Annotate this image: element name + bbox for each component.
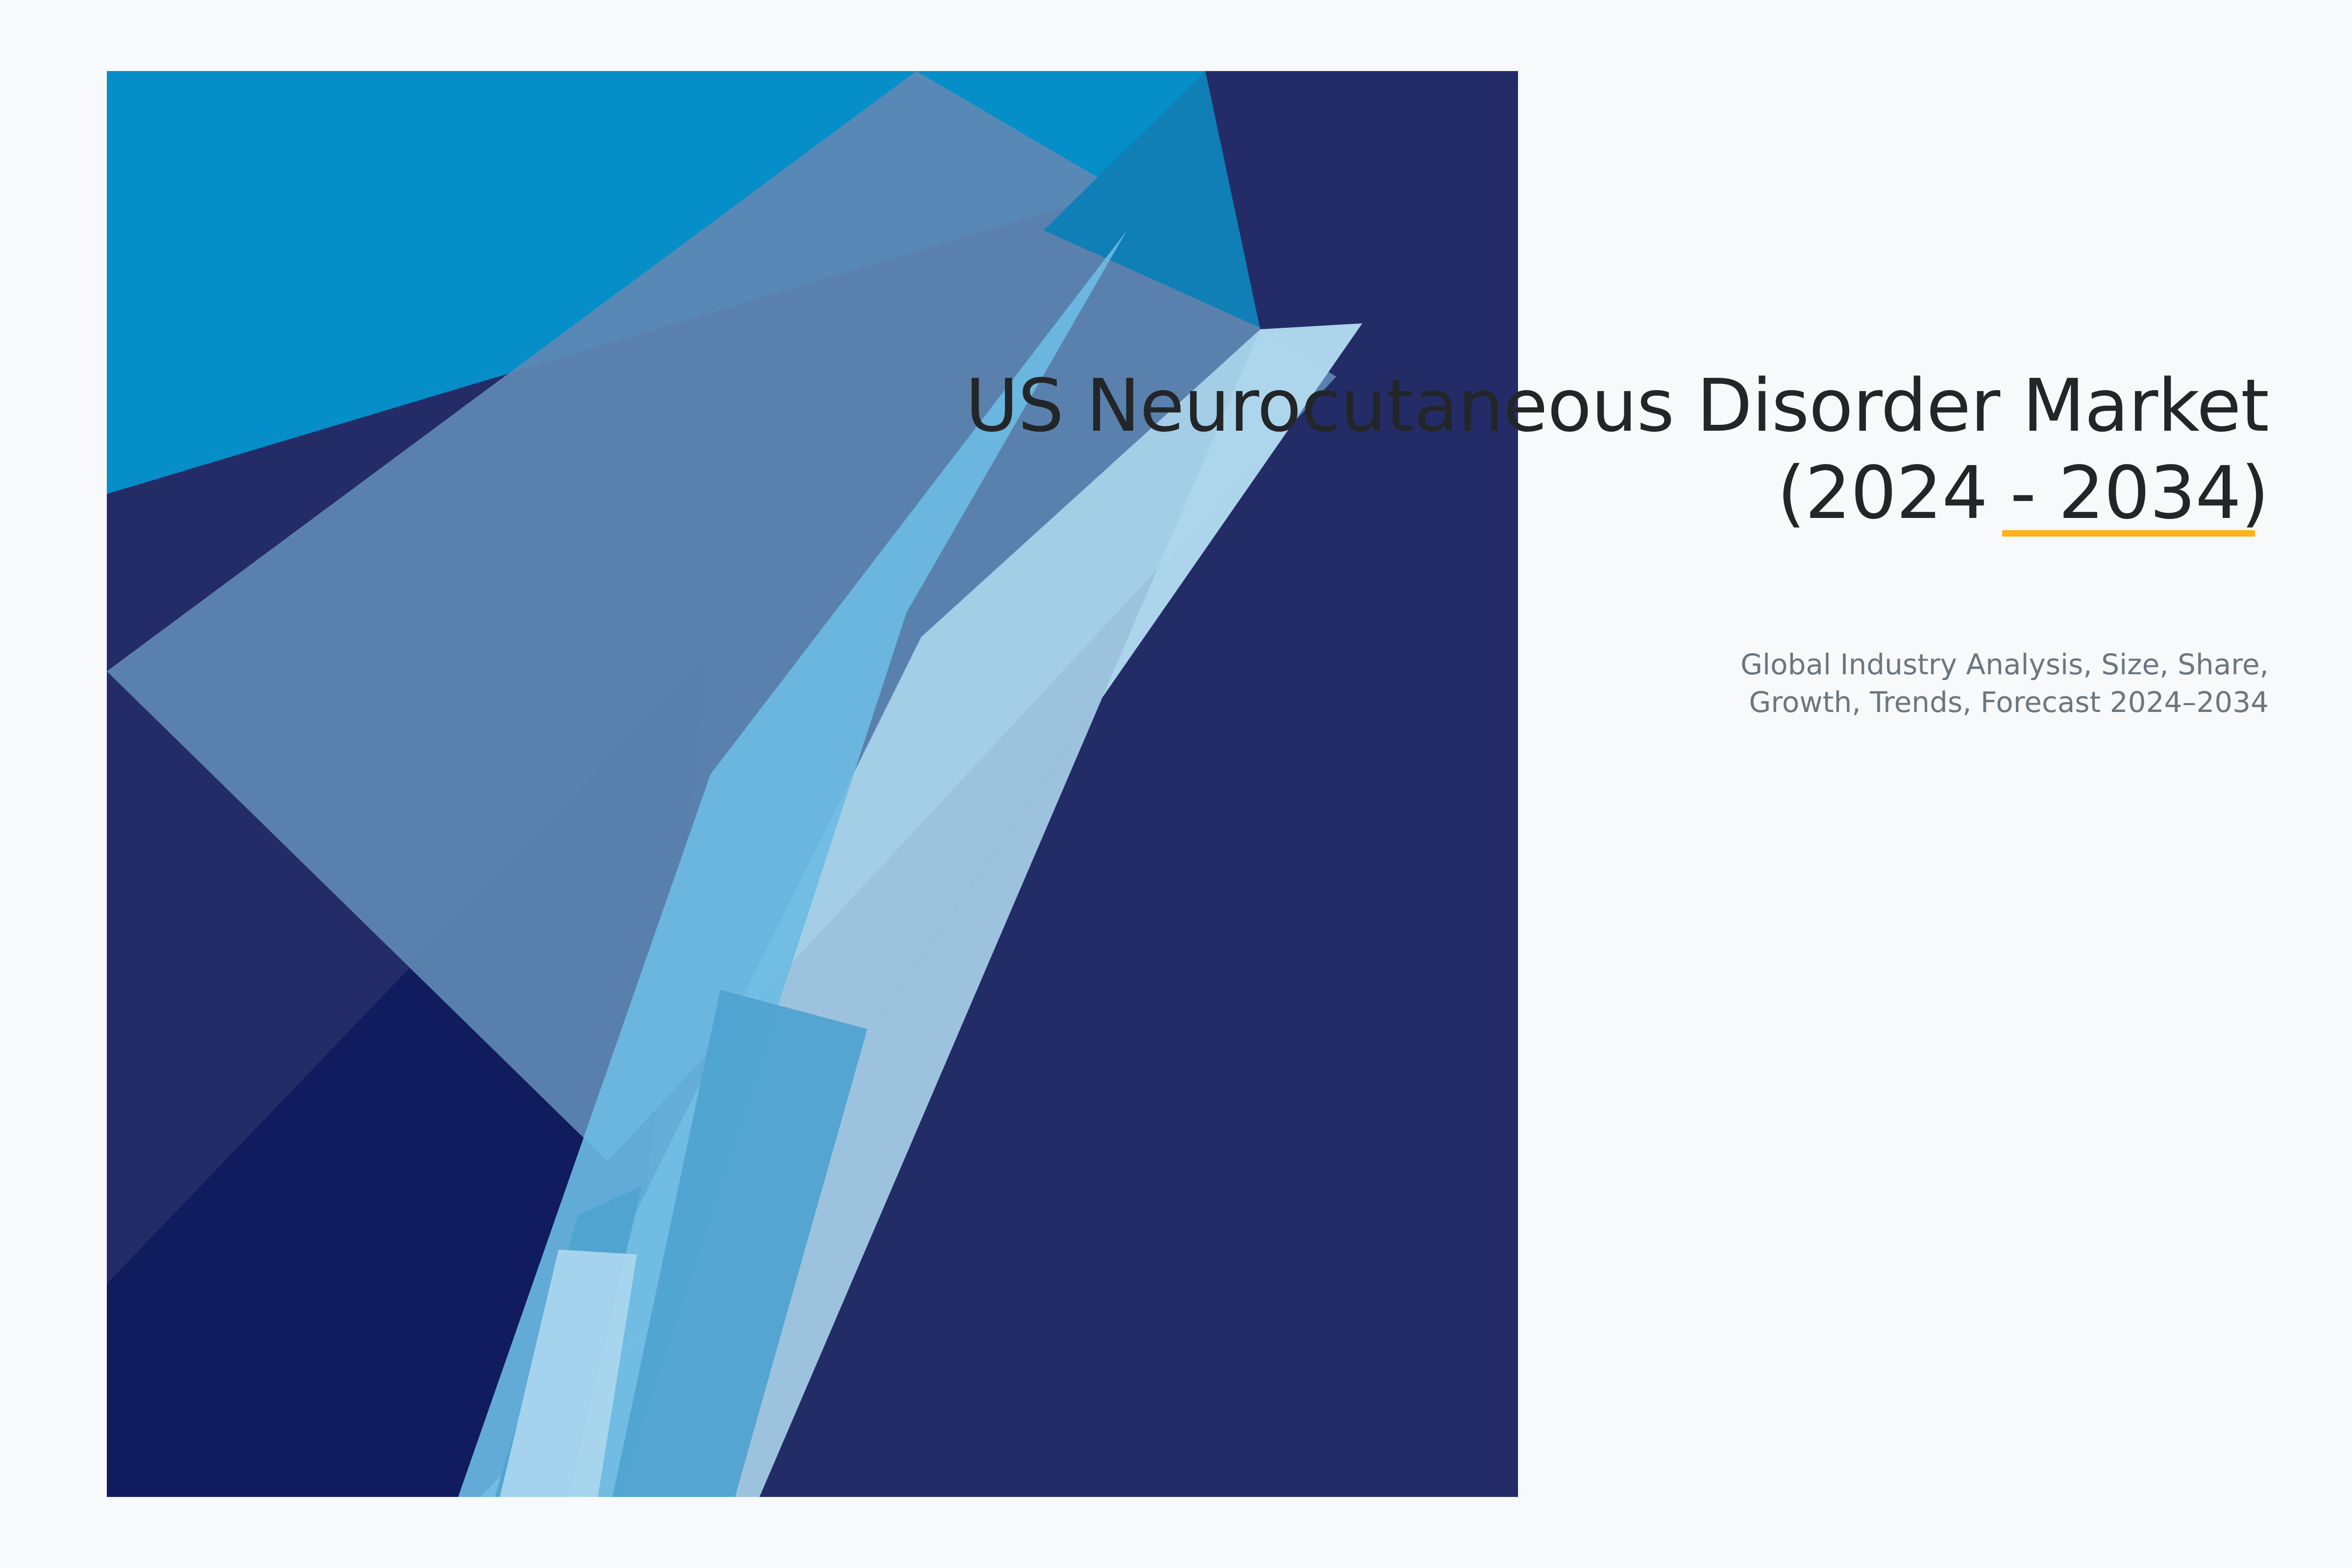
- mid-blue-foot-left: [495, 1186, 642, 1497]
- pale-blue-bottom-spike: [500, 1249, 637, 1497]
- abstract-geometric-cover-graphic: [0, 0, 2352, 1568]
- cover-page: US Neurocutaneous Disorder Market (2024 …: [0, 0, 2352, 1568]
- cyan-needle-sliver: [1044, 71, 1262, 328]
- cyan-top-left-block: [107, 71, 1518, 1497]
- steel-blue-parallelogram: [107, 71, 1372, 1161]
- navy-top-right-triangle: [1205, 71, 1518, 329]
- navy-diagonal-band: [107, 71, 1518, 1497]
- page-title: US Neurocutaneous Disorder Market (2024 …: [833, 363, 2269, 537]
- title-block: US Neurocutaneous Disorder Market (2024 …: [833, 363, 2269, 537]
- mid-blue-foot: [612, 990, 867, 1497]
- deep-navy-wedge: [107, 659, 706, 1497]
- title-accent-underline: [2002, 530, 2255, 537]
- page-subtitle: Global Industry Analysis, Size, Share, G…: [833, 646, 2269, 721]
